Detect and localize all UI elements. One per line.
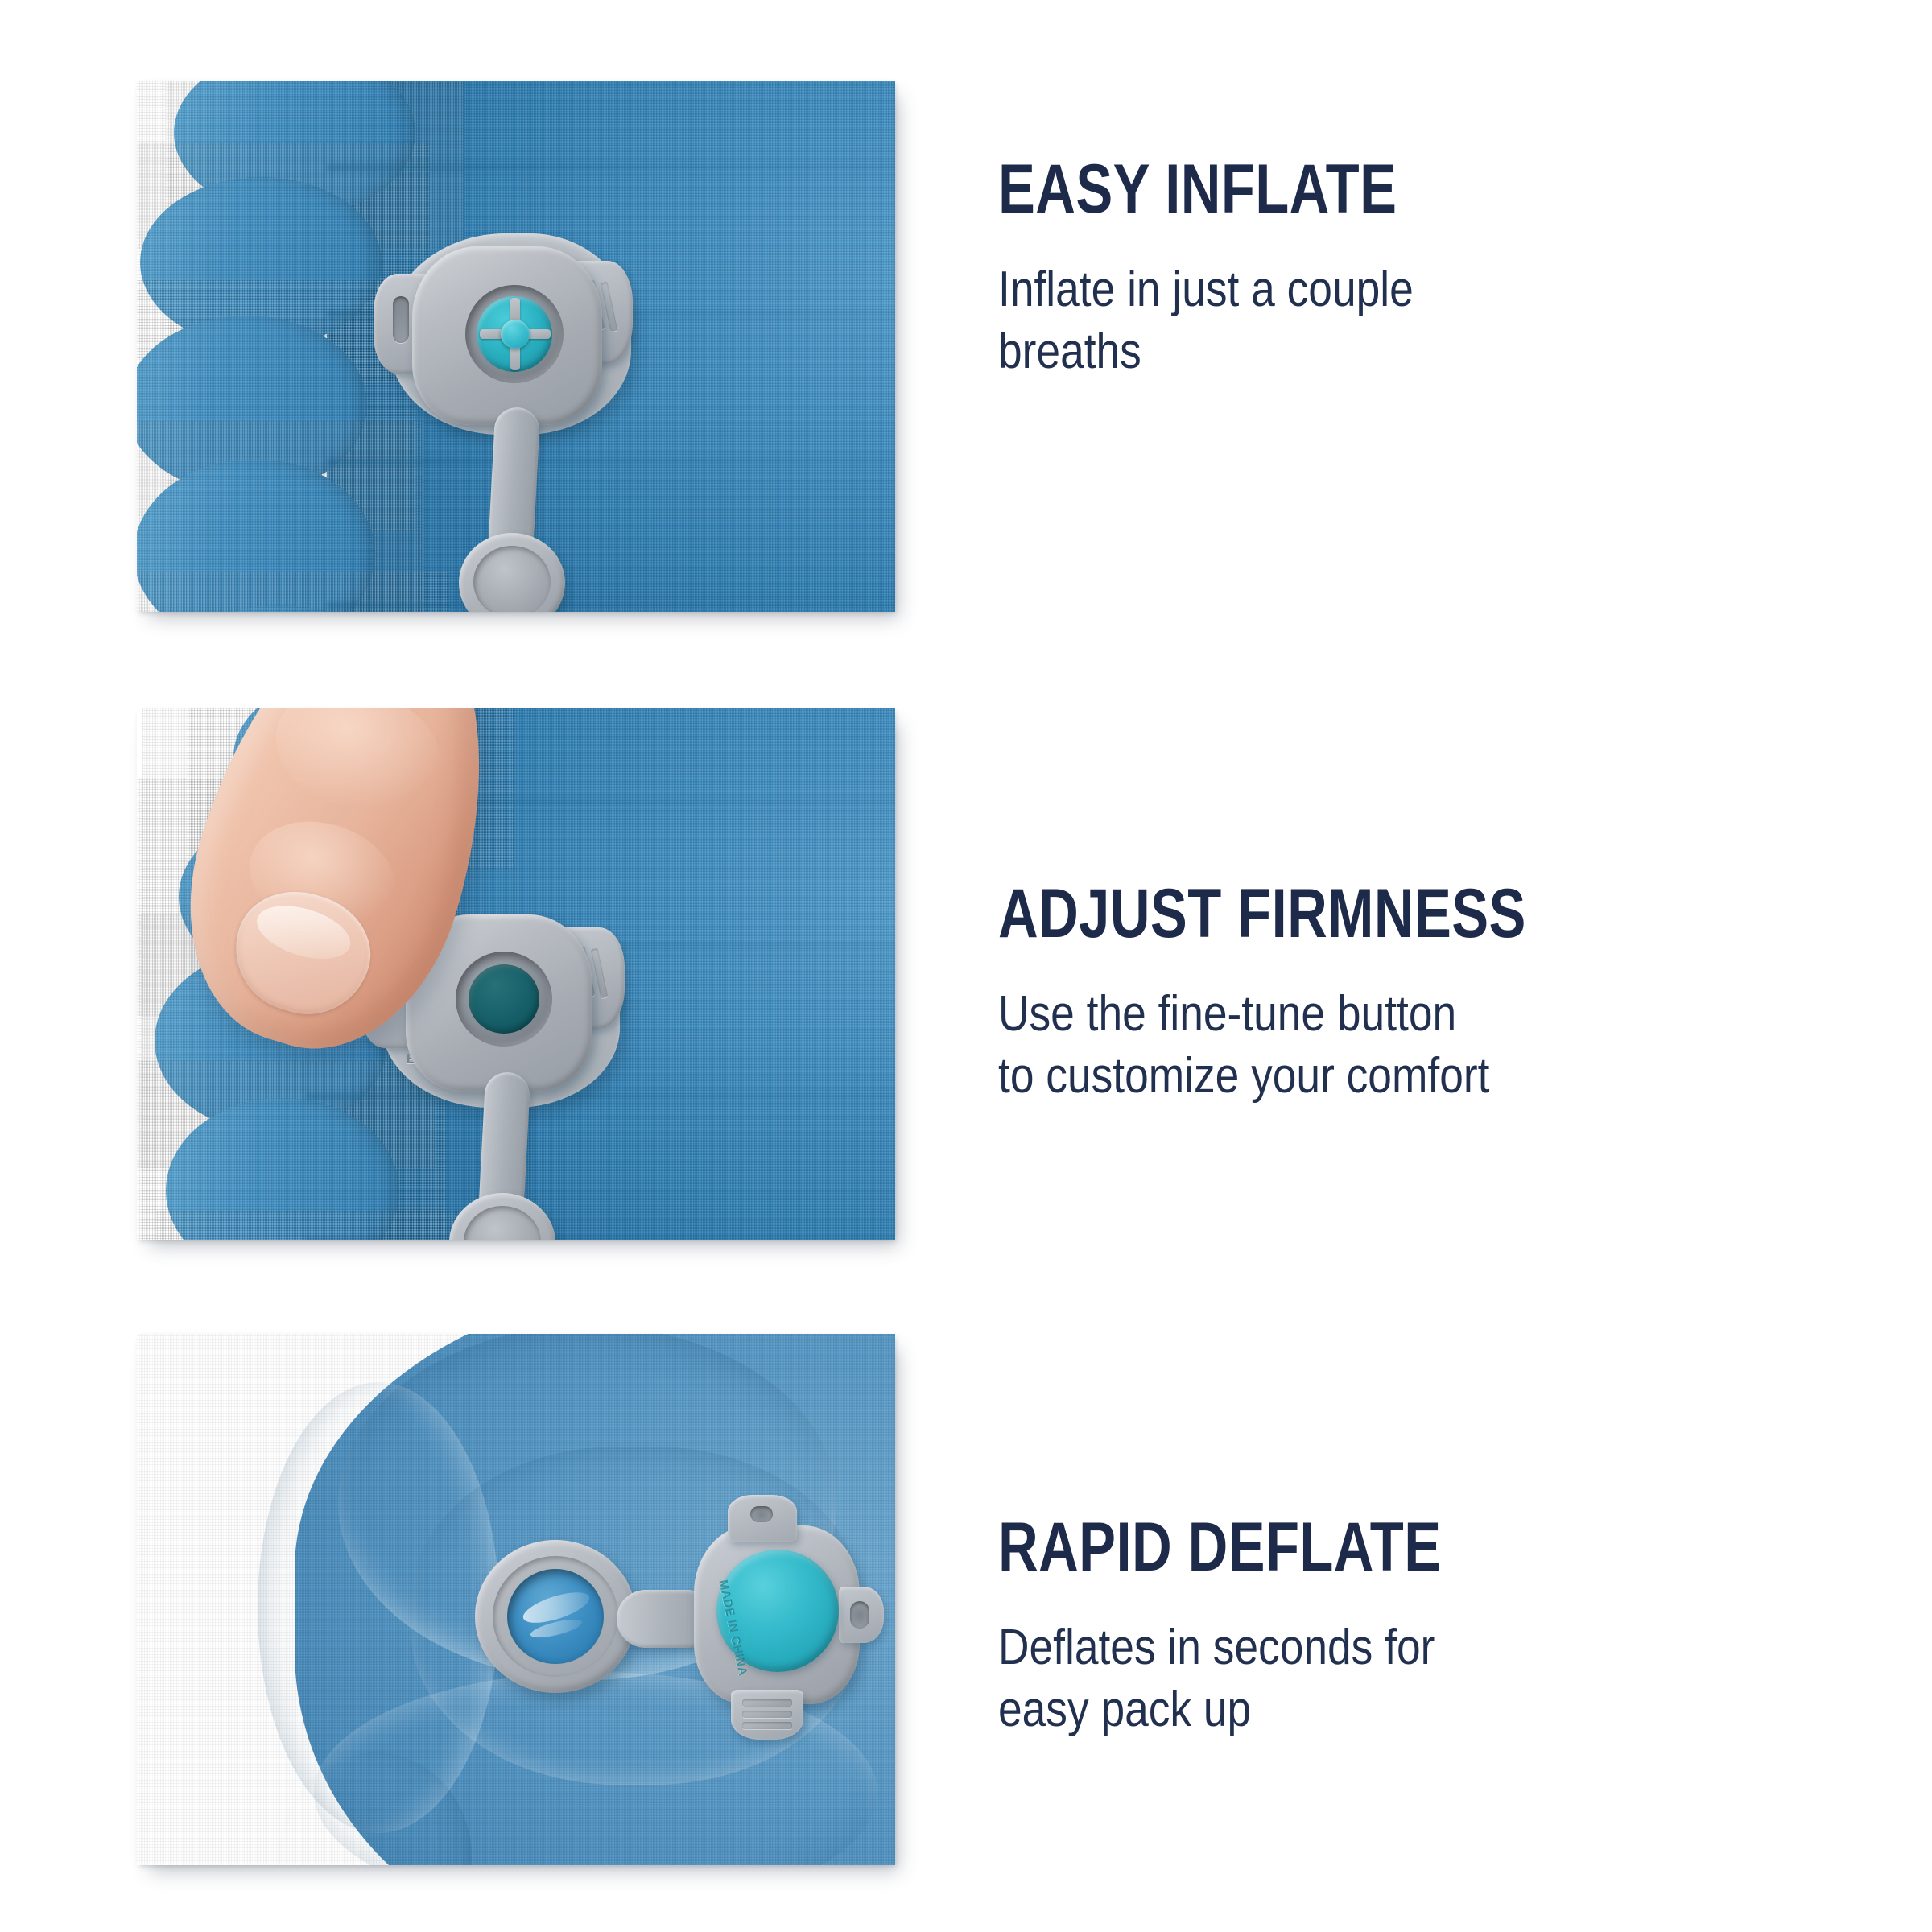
feature-photo-adjust-firmness: DEFLATE FINE-TUNE <box>137 708 895 1240</box>
feature-text-rapid-deflate: RAPID DEFLATE Deflates in seconds for ea… <box>998 1334 1900 1741</box>
valve-center-nub[interactable] <box>501 320 530 349</box>
deflate-valve-assembly[interactable]: MADE IN CHINA <box>475 1540 861 1773</box>
cap-top-tab-hole <box>750 1506 773 1522</box>
fine-tune-button[interactable] <box>469 964 539 1034</box>
feature-description: Inflate in just a couple breaths <box>998 259 1773 383</box>
feature-text-adjust-firmness: ADJUST FIRMNESS Use the fine-tune button… <box>998 708 1900 1108</box>
feature-row-rapid-deflate: MADE IN CHINA RAPID DEFLATE Deflates in … <box>0 1334 1932 1865</box>
feature-heading: RAPID DEFLATE <box>998 1513 1719 1582</box>
cap-side-tab-hole <box>850 1601 869 1629</box>
deflate-slot[interactable] <box>393 296 409 343</box>
feature-description: Deflates in seconds for easy pack up <box>998 1617 1773 1741</box>
feature-heading: EASY INFLATE <box>998 155 1719 224</box>
feature-description: Use the fine-tune button to customize yo… <box>998 984 1773 1108</box>
feature-text-easy-inflate: EASY INFLATE Inflate in just a couple br… <box>998 80 1900 383</box>
valve-open-port-hole[interactable] <box>507 1569 604 1664</box>
feature-row-easy-inflate: DEFLATE FINE-TUNE <box>0 80 1932 612</box>
feature-heading: ADJUST FIRMNESS <box>998 879 1719 948</box>
valve-cap-inner <box>473 546 551 612</box>
inflation-valve-assembly[interactable]: DEFLATE FINE-TUNE <box>378 222 716 601</box>
infographic-root: DEFLATE FINE-TUNE <box>0 0 1932 1932</box>
feature-photo-easy-inflate: DEFLATE FINE-TUNE <box>137 80 895 612</box>
feature-row-adjust-firmness: DEFLATE FINE-TUNE <box>0 708 1932 1240</box>
feature-photo-rapid-deflate: MADE IN CHINA <box>137 1334 895 1865</box>
